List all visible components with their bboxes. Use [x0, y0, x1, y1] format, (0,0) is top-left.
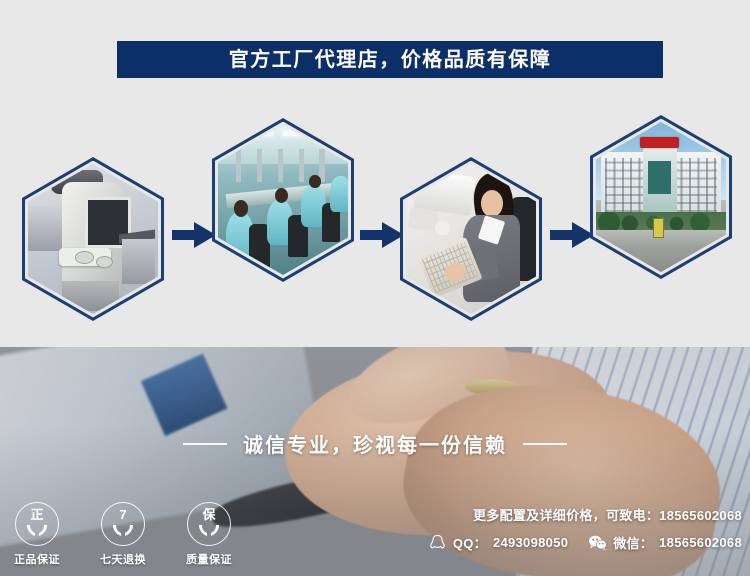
process-flow-section: 官方工厂代理店，价格品质有保障	[0, 0, 750, 347]
tagline-rule-right	[523, 443, 567, 445]
badge-circle: 保	[187, 502, 231, 546]
badge-character: 保	[188, 508, 230, 521]
arrow-right-icon-2	[360, 222, 404, 248]
badge-label: 质量保证	[180, 551, 238, 567]
qq-penguin-icon	[428, 534, 447, 551]
badge-circle: 7	[101, 502, 145, 546]
process-step-company	[590, 115, 732, 279]
badge-label: 七天退换	[94, 551, 152, 567]
tagline-row: 诚信专业，珍视每一份信赖	[0, 429, 750, 458]
wechat-number: 18565602068	[659, 535, 742, 550]
arrow-right-icon-1	[172, 222, 216, 248]
page-title: 官方工厂代理店，价格品质有保障	[229, 50, 552, 70]
hands-holding-icon	[25, 524, 49, 537]
badge-character: 正	[16, 508, 58, 521]
qq-number: 2493098050	[493, 535, 568, 550]
trust-banner-section: 诚信专业，珍视每一份信赖 正 正品保证 7	[0, 347, 750, 576]
wechat-label: 微信：	[613, 533, 653, 552]
contact-block: 更多配置及详细价格，可致电：18565602068 QQ： 2493098050	[428, 505, 742, 552]
wechat-icon	[588, 534, 607, 551]
hands-holding-icon	[111, 524, 135, 537]
guarantee-badges: 正 正品保证 7 七天退换	[8, 502, 238, 567]
guarantee-badge-return: 7 七天退换	[94, 502, 152, 567]
badge-circle: 正	[15, 502, 59, 546]
tagline-rule-left	[183, 443, 227, 445]
process-step-service	[400, 157, 542, 321]
contact-im-line: QQ： 2493098050 微信： 18565602068	[428, 533, 742, 552]
badge-label: 正品保证	[8, 551, 66, 567]
guarantee-badge-authentic: 正 正品保证	[8, 502, 66, 567]
product-banner-page: 官方工厂代理店，价格品质有保障	[0, 0, 750, 576]
process-step-equipment	[22, 157, 164, 321]
guarantee-badge-quality: 保 质量保证	[180, 502, 238, 567]
badge-character: 7	[102, 508, 144, 521]
header-banner: 官方工厂代理店，价格品质有保障	[117, 41, 663, 78]
hands-holding-icon	[197, 524, 221, 537]
contact-phone-line: 更多配置及详细价格，可致电：18565602068	[428, 505, 742, 524]
tagline-text: 诚信专业，珍视每一份信赖	[243, 429, 507, 458]
process-step-factory	[212, 118, 354, 282]
qq-label: QQ：	[453, 533, 487, 552]
arrow-right-icon-3	[550, 222, 594, 248]
